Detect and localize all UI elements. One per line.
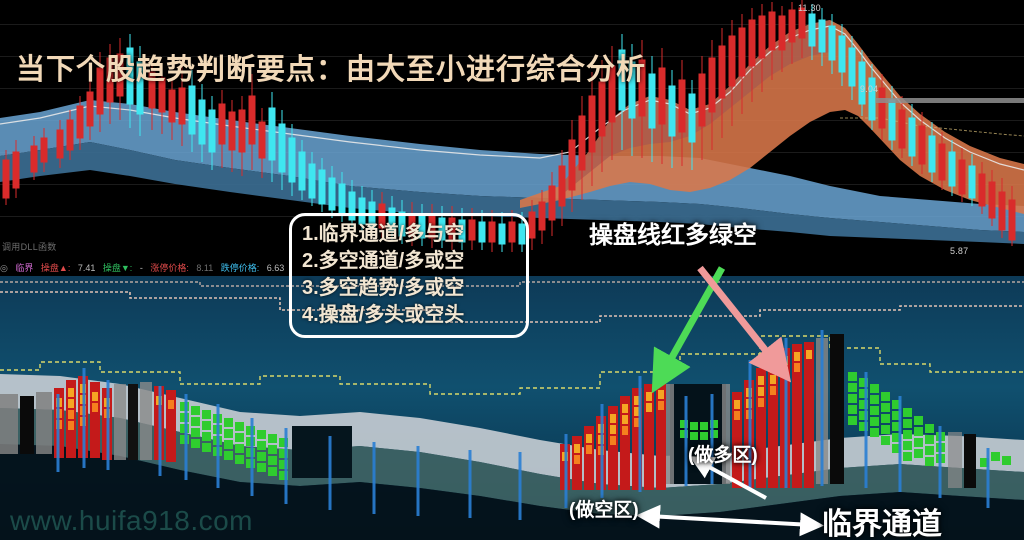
status-label-3: 跌停价格:: [221, 263, 260, 273]
price-tag-low: 5.87: [950, 246, 968, 256]
price-tag-high: 11.30: [798, 3, 821, 13]
price-series-graphics: [0, 0, 1024, 258]
status-label-1: 操盘▼:: [103, 263, 132, 273]
status-label-2: 涨停价格:: [150, 263, 189, 273]
status-value-0: 7.41: [78, 263, 96, 273]
status-value-1: -: [140, 263, 143, 273]
dll-status-text: 调用DLL函数: [2, 240, 57, 253]
indicator-name: 临界: [15, 263, 33, 273]
screenshot-root: 11.30 9.04 5.87 调用DLL函数 ◎ 临界 操盘▲: 7.41 操…: [0, 0, 1024, 540]
price-chart-panel[interactable]: 11.30 9.04: [0, 0, 1024, 258]
indicator-chart-panel[interactable]: [0, 276, 1024, 540]
status-label-0: 操盘▲:: [41, 263, 70, 273]
status-value-3: 6.63: [267, 263, 285, 273]
status-value-2: 8.11: [196, 263, 213, 273]
indicator-status-bar[interactable]: ◎ 临界 操盘▲: 7.41 操盘▼: - 涨停价格: 8.11 跌停价格: 6…: [0, 261, 1024, 276]
status-dot-icon: ◎: [0, 263, 8, 273]
indicator-series-graphics: [0, 276, 1024, 540]
price-tag-mid: 9.04: [860, 84, 878, 94]
